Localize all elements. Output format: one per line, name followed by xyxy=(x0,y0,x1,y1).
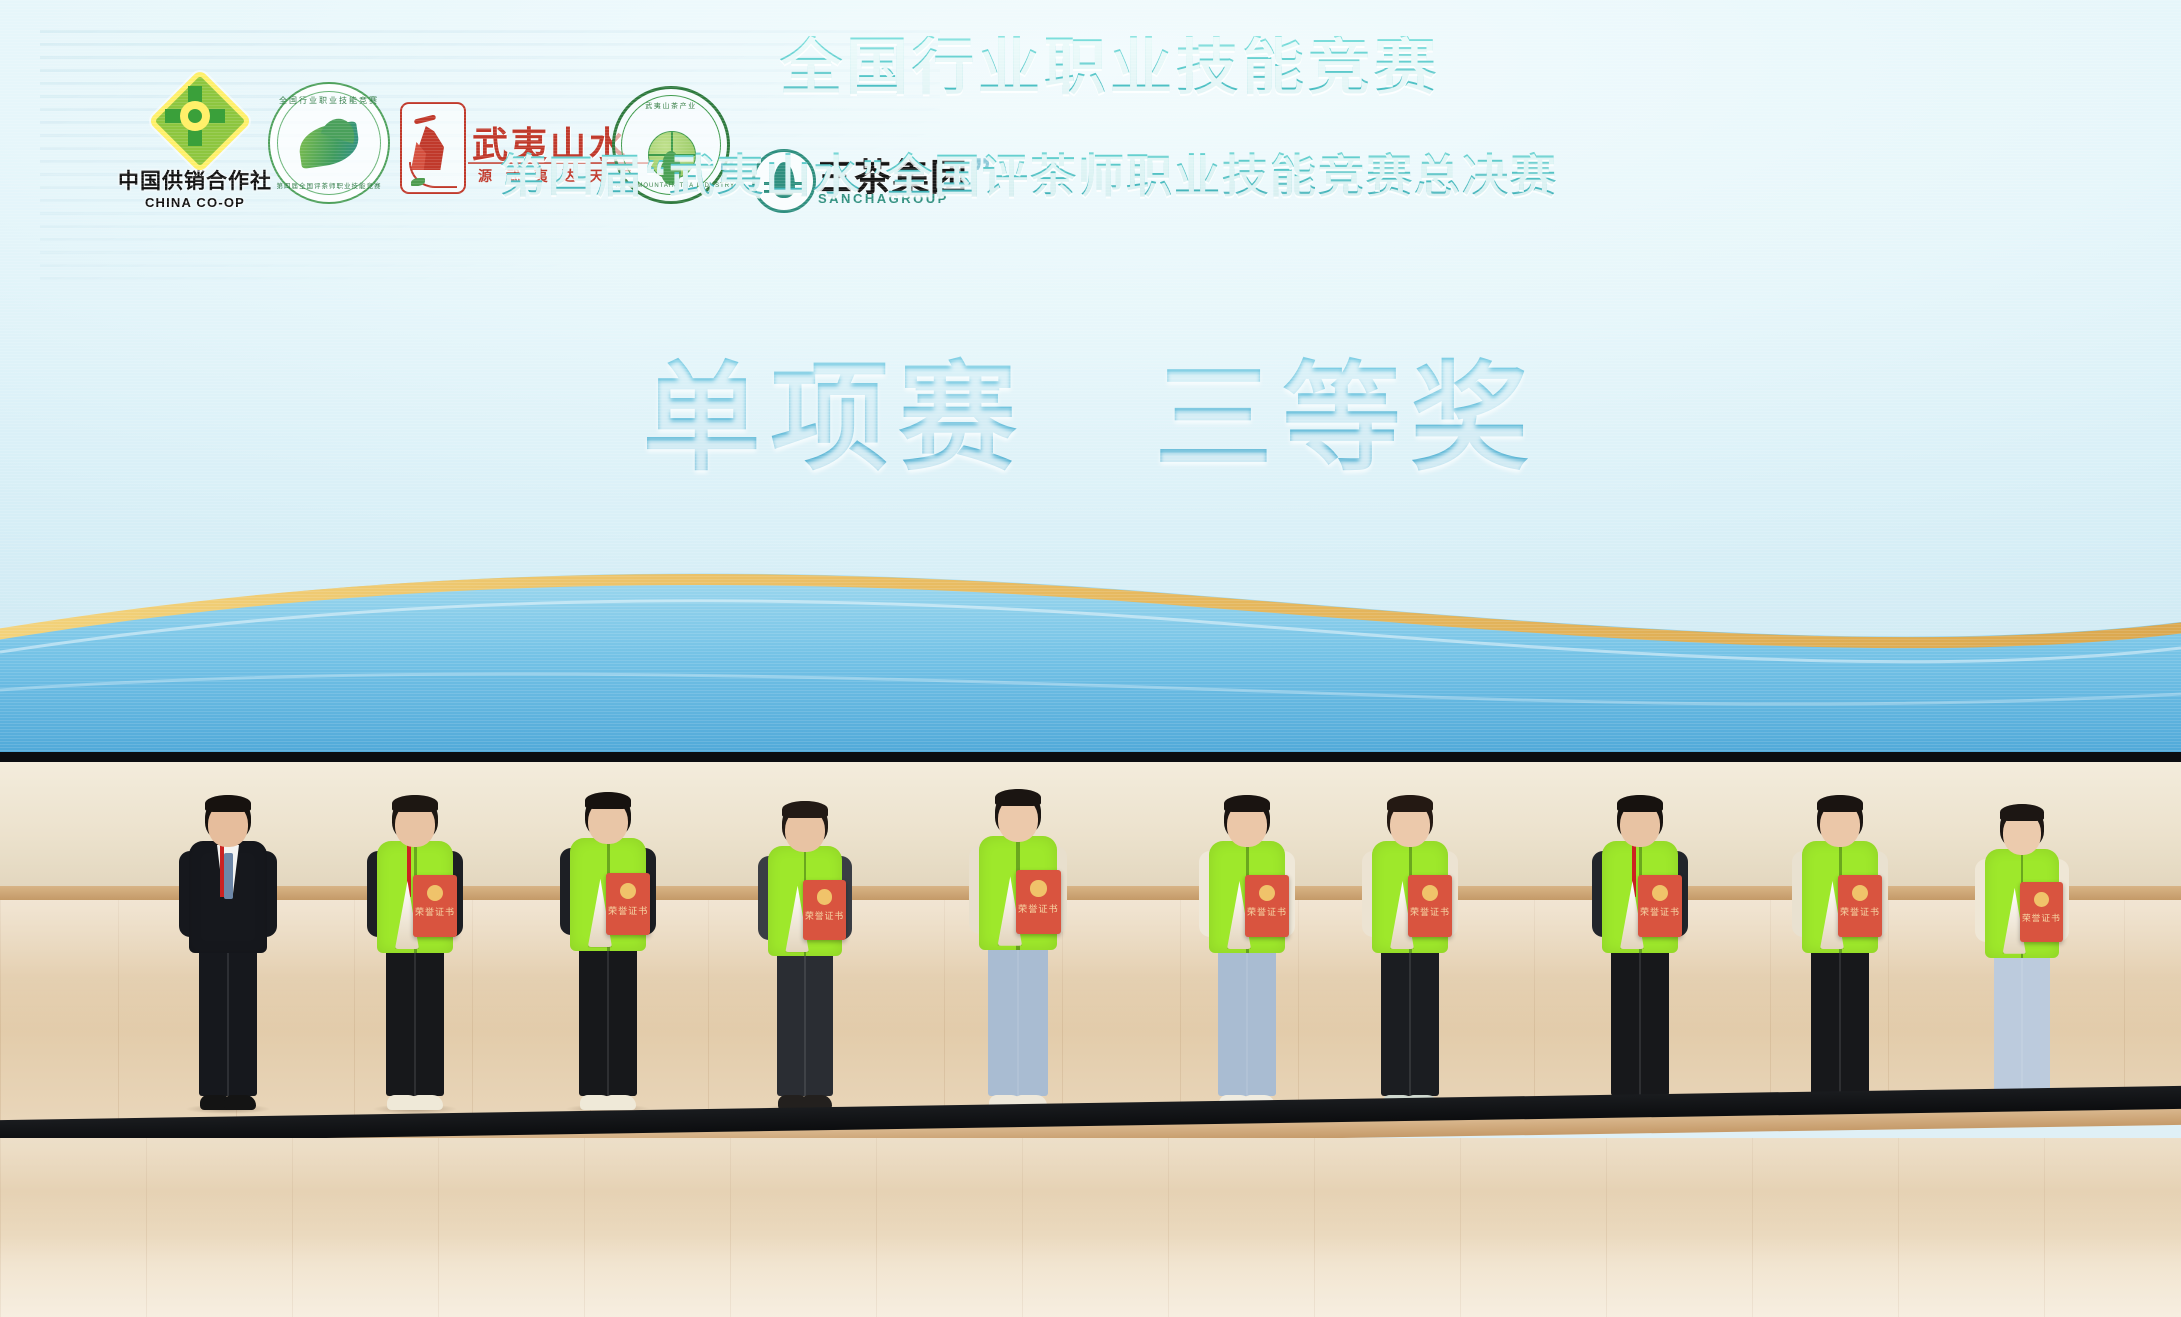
certificate-label: 荣誉证书 xyxy=(1408,905,1452,918)
certificate-of-honor: 荣誉证书 xyxy=(413,875,457,937)
person-hair-fringe xyxy=(1817,795,1863,812)
certificate-label: 荣誉证书 xyxy=(413,905,457,918)
certificate-of-honor: 荣誉证书 xyxy=(1245,875,1289,937)
people-layer: 荣誉证书 荣誉证书 xyxy=(0,0,2181,1110)
certificate-label: 荣誉证书 xyxy=(2020,911,2063,924)
person-hair-fringe xyxy=(1224,795,1270,812)
certificate-label: 荣誉证书 xyxy=(1638,905,1682,918)
person-hair-fringe xyxy=(205,795,251,812)
person-legs xyxy=(988,934,1047,1096)
awardee-in-green-vest: 荣誉证书 xyxy=(1592,795,1688,1110)
person-legs xyxy=(579,935,638,1096)
person-shoe-right xyxy=(604,1095,636,1110)
person-legs xyxy=(1811,937,1869,1096)
awardee-in-green-vest: 荣誉证书 xyxy=(367,795,463,1110)
awardee-in-green-vest: 荣誉证书 xyxy=(1362,795,1458,1110)
person-legs xyxy=(386,937,444,1096)
person-legs xyxy=(1611,937,1669,1096)
certificate-of-honor: 荣誉证书 xyxy=(1016,870,1061,933)
person-hair-fringe xyxy=(2000,804,2045,820)
certificate-of-honor: 荣誉证书 xyxy=(1408,875,1452,937)
foreground-sheen xyxy=(0,1138,2181,1317)
certificate-label: 荣誉证书 xyxy=(606,903,650,917)
person-hair-fringe xyxy=(1387,795,1433,812)
person-legs xyxy=(1218,937,1276,1096)
person-legs xyxy=(777,940,834,1096)
certificate-label: 荣誉证书 xyxy=(803,909,846,922)
awardee-in-green-vest: 荣誉证书 xyxy=(560,792,656,1110)
person-lanyard xyxy=(220,843,224,897)
person-hair-fringe xyxy=(782,801,827,818)
screenshot-root: 中国供销合作社 CHINA CO-OP 全国行业职业技能竞赛 第四届全国评茶师职… xyxy=(0,0,2181,1317)
person-hair-fringe xyxy=(392,795,438,812)
person-legs xyxy=(1994,942,2050,1096)
person-hair-fringe xyxy=(585,792,631,809)
certificate-label: 荣誉证书 xyxy=(1016,901,1061,915)
awardee-in-green-vest: 荣誉证书 xyxy=(757,801,853,1110)
person-shoe-right xyxy=(224,1095,256,1110)
certificate-label: 荣誉证书 xyxy=(1245,905,1289,918)
certificate-of-honor: 荣誉证书 xyxy=(2020,882,2063,942)
person-hair-fringe xyxy=(995,789,1042,806)
certificate-of-honor: 荣誉证书 xyxy=(606,873,650,936)
certificate-of-honor: 荣誉证书 xyxy=(1838,875,1882,937)
person-legs xyxy=(1381,937,1439,1096)
awardee-in-green-vest: 荣誉证书 xyxy=(1199,795,1295,1110)
certificate-label: 荣誉证书 xyxy=(1838,905,1882,918)
certificate-of-honor: 荣誉证书 xyxy=(1638,875,1682,937)
awardee-in-green-vest: 荣誉证书 xyxy=(1974,804,2070,1110)
awardee-in-green-vest: 荣誉证书 xyxy=(1792,795,1888,1110)
awardee-in-green-vest: 荣誉证书 xyxy=(970,789,1066,1110)
person-torso xyxy=(189,841,267,953)
person-shoe-right xyxy=(411,1095,443,1110)
presenter-in-dark-suit xyxy=(180,795,276,1110)
person-legs xyxy=(199,937,257,1096)
certificate-of-honor: 荣誉证书 xyxy=(803,880,846,941)
person-hair-fringe xyxy=(1617,795,1663,812)
